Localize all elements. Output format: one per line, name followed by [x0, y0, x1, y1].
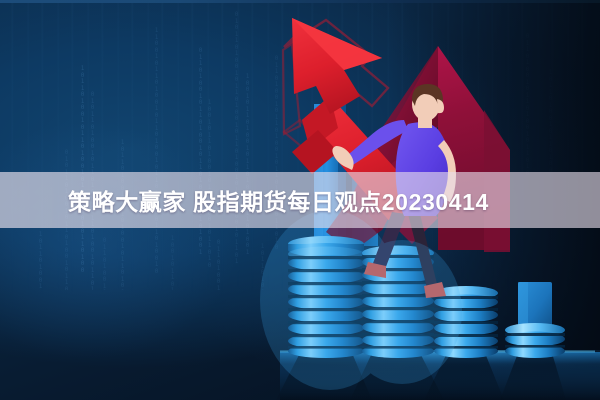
page-title: 策略大赢家 股指期货每日观点20230414 — [68, 183, 489, 217]
top-border-line — [0, 0, 600, 3]
title-overlay-band: 策略大赢家 股指期货每日观点20230414 — [0, 172, 600, 228]
banner-image: 1 0 1 1 0 1 0 0 1 0 1 1 0 1 0 0 1 0 1 1 … — [0, 0, 600, 400]
